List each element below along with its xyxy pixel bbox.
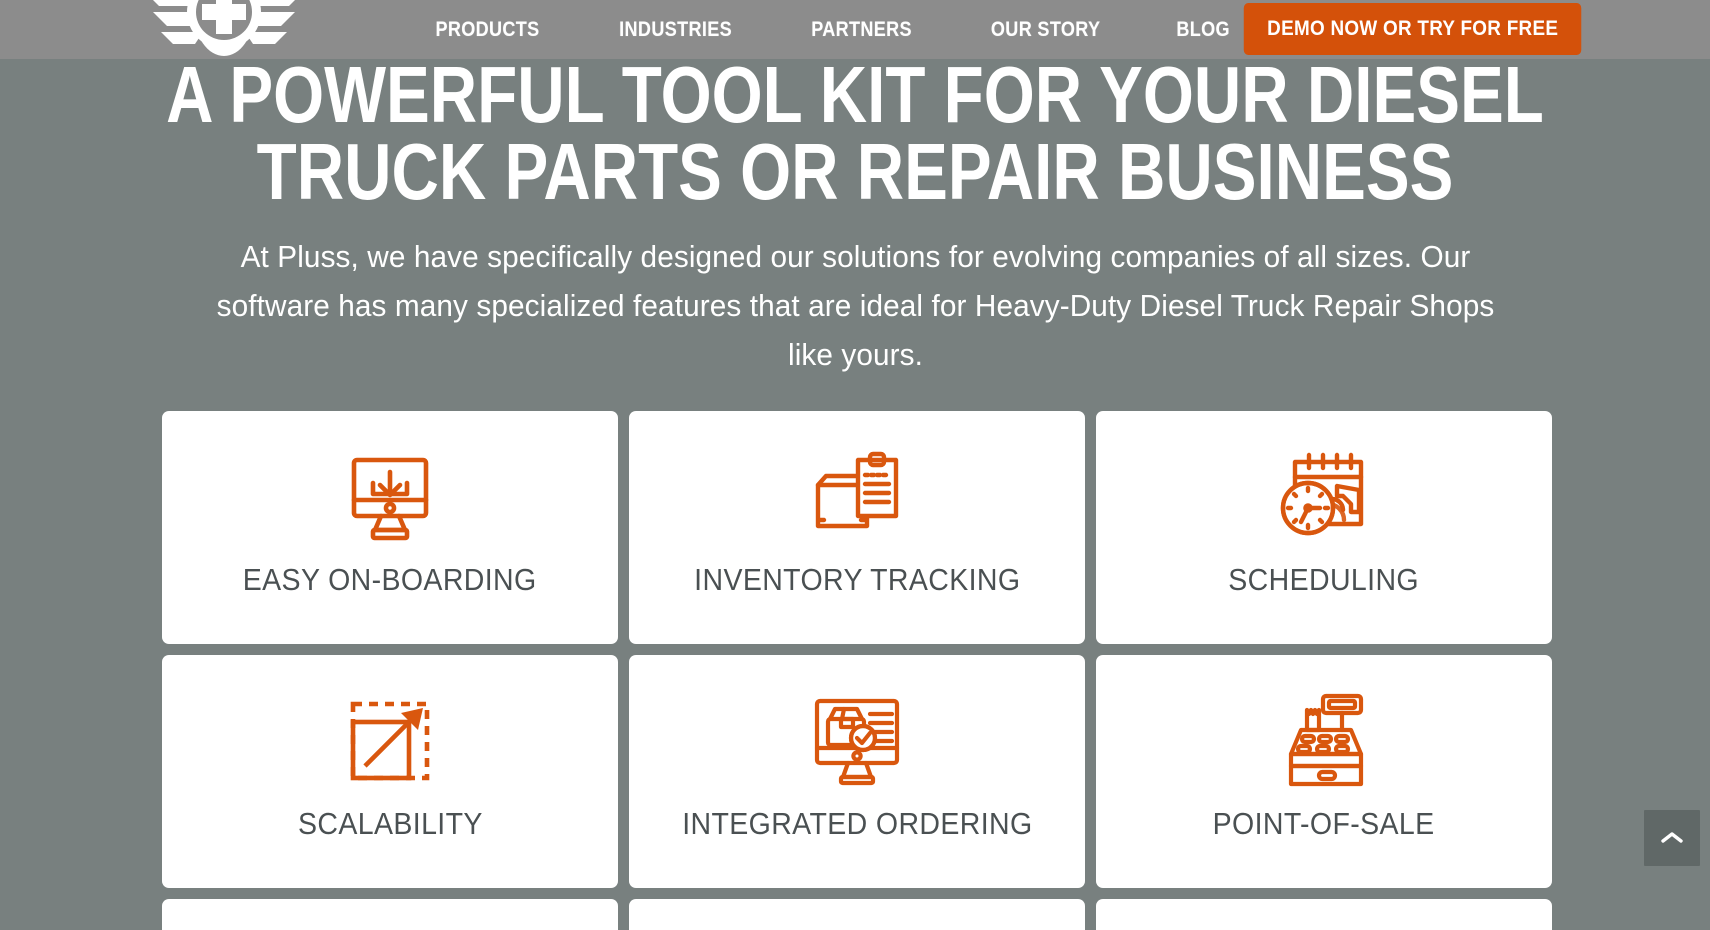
monitor-download-icon	[334, 441, 446, 553]
feature-label: EASY ON-BOARDING	[243, 562, 537, 598]
nav-item-our-story[interactable]: OUR STORY	[965, 18, 1128, 42]
calendar-clock-phone-icon	[1268, 441, 1380, 553]
expanding-square-arrow-icon	[334, 685, 446, 797]
feature-label: SCALABILITY	[298, 806, 483, 842]
page-title: A POWERFUL TOOL KIT FOR YOUR DIESEL TRUC…	[154, 56, 1556, 210]
site-header: PRODUCTS INDUSTRIES PARTNERS OUR STORY B…	[0, 0, 1710, 59]
nav-item-products[interactable]: PRODUCTS	[409, 18, 566, 42]
scroll-to-top-button[interactable]	[1644, 810, 1700, 866]
feature-card-row3-col1[interactable]	[162, 899, 618, 930]
feature-label: INTEGRATED ORDERING	[682, 806, 1032, 842]
hero-section: A POWERFUL TOOL KIT FOR YOUR DIESEL TRUC…	[0, 59, 1710, 379]
feature-grid: EASY ON-BOARDING INVENTORY TRACKING	[162, 411, 1552, 930]
cash-register-icon	[1268, 685, 1380, 797]
feature-card-row3-col3[interactable]	[1096, 899, 1552, 930]
nav-item-industries[interactable]: INDUSTRIES	[593, 18, 759, 42]
feature-label: SCHEDULING	[1229, 562, 1420, 598]
feature-label: POINT-OF-SALE	[1213, 806, 1435, 842]
nav-item-blog[interactable]: BLOG	[1149, 18, 1256, 42]
hero-subtitle: At Pluss, we have specifically designed …	[200, 232, 1510, 379]
feature-card-row3-col2[interactable]	[629, 899, 1085, 930]
chevron-up-icon	[1660, 831, 1684, 845]
demo-cta-button[interactable]: DEMO NOW OR TRY FOR FREE	[1244, 3, 1582, 55]
feature-card-scalability[interactable]: SCALABILITY	[162, 655, 618, 888]
feature-card-point-of-sale[interactable]: POINT-OF-SALE	[1096, 655, 1552, 888]
feature-card-easy-on-boarding[interactable]: EASY ON-BOARDING	[162, 411, 618, 644]
feature-card-inventory-tracking[interactable]: INVENTORY TRACKING	[629, 411, 1085, 644]
site-logo[interactable]	[126, 0, 322, 62]
box-clipboard-icon	[801, 441, 913, 553]
winged-emblem-logo-icon	[131, 0, 317, 60]
feature-label: INVENTORY TRACKING	[694, 562, 1020, 598]
monitor-package-check-icon	[801, 685, 913, 797]
nav-item-partners[interactable]: PARTNERS	[785, 18, 939, 42]
feature-card-integrated-ordering[interactable]: INTEGRATED ORDERING	[629, 655, 1085, 888]
feature-card-scheduling[interactable]: SCHEDULING	[1096, 411, 1552, 644]
